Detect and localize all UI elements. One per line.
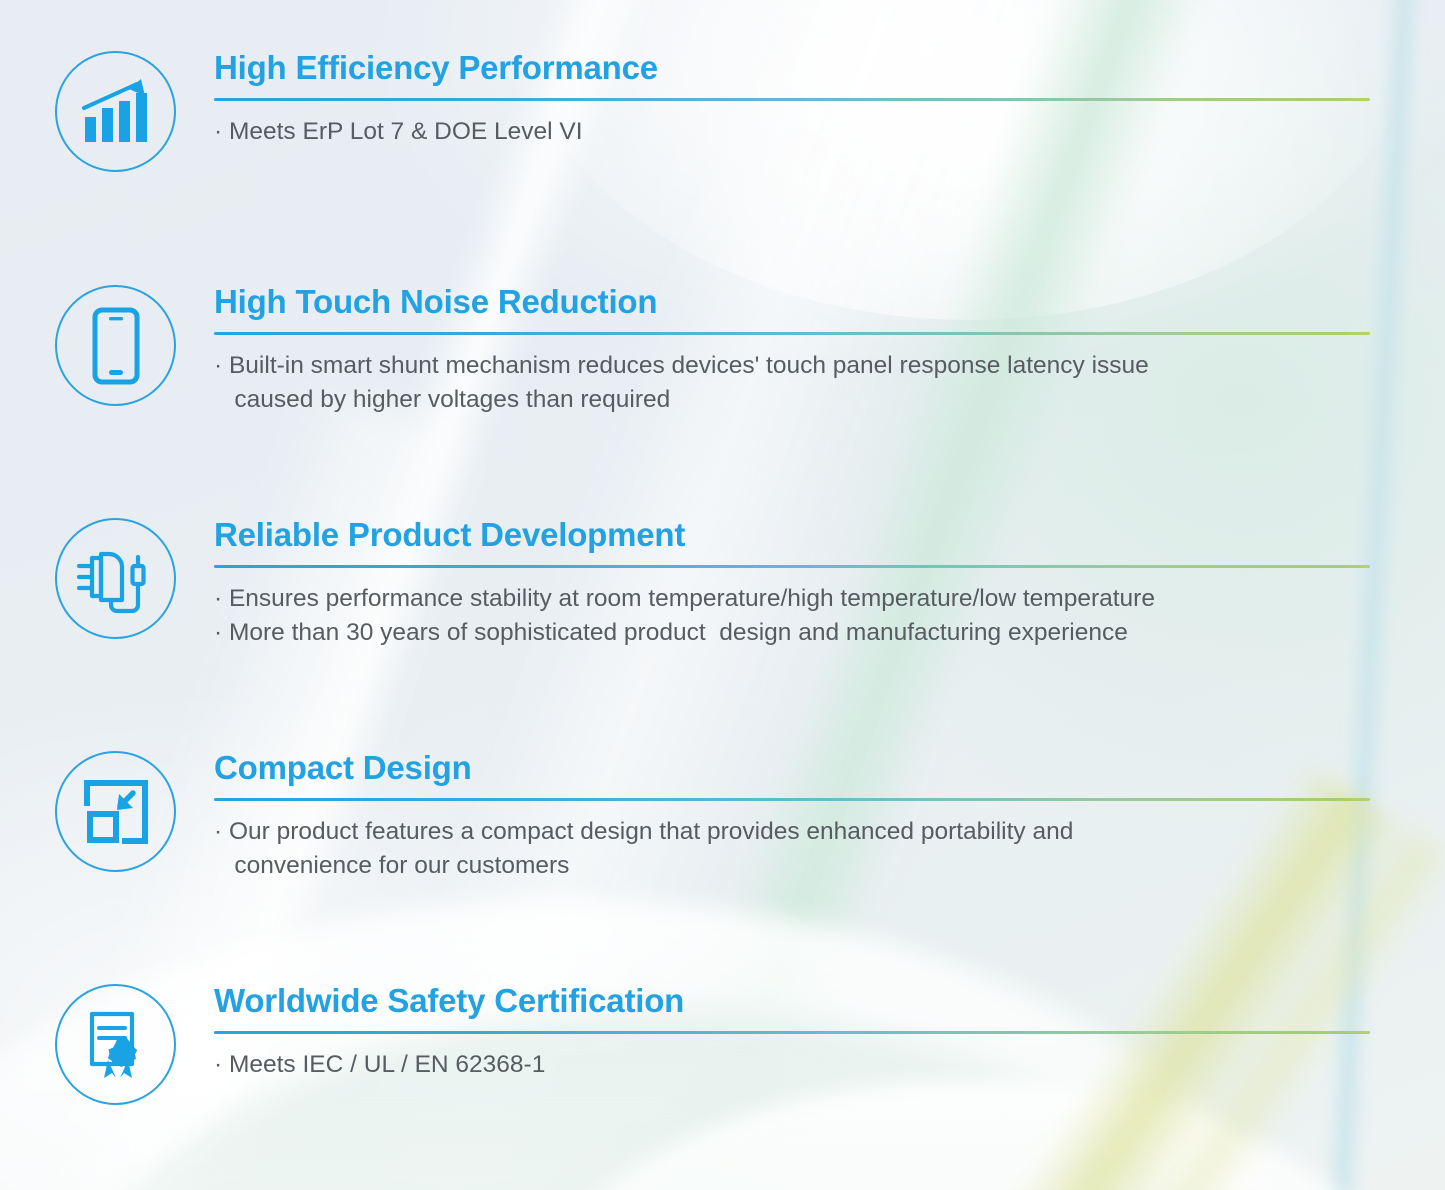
- feature-line: caused by higher voltages than required: [214, 383, 1370, 418]
- feature-description: · Our product features a compact design …: [214, 815, 1370, 885]
- feature-divider: [214, 98, 1370, 101]
- feature-item-reliable-product-development: Reliable Product Development · Ensures p…: [55, 518, 1370, 651]
- feature-line: convenience for our customers: [214, 849, 1370, 884]
- feature-title: Worldwide Safety Certification: [214, 984, 1370, 1019]
- feature-body: Worldwide Safety Certification · Meets I…: [214, 984, 1370, 1082]
- feature-title: High Efficiency Performance: [214, 51, 1370, 86]
- feature-item-worldwide-safety-certification: Worldwide Safety Certification · Meets I…: [55, 984, 1370, 1105]
- feature-line: · More than 30 years of sophisticated pr…: [214, 616, 1370, 651]
- feature-body: High Efficiency Performance · Meets ErP …: [214, 51, 1370, 149]
- compact-resize-icon: [55, 751, 176, 872]
- feature-line: · Meets IEC / UL / EN 62368-1: [214, 1048, 1370, 1083]
- feature-divider: [214, 798, 1370, 801]
- certificate-award-icon: [55, 984, 176, 1105]
- feature-line: · Ensures performance stability at room …: [214, 582, 1370, 617]
- feature-divider: [214, 565, 1370, 568]
- feature-title: Compact Design: [214, 751, 1370, 786]
- feature-item-high-efficiency-performance: High Efficiency Performance · Meets ErP …: [55, 51, 1370, 172]
- feature-line: · Built-in smart shunt mechanism reduces…: [214, 349, 1370, 384]
- feature-item-compact-design: Compact Design · Our product features a …: [55, 751, 1370, 884]
- feature-body: Compact Design · Our product features a …: [214, 751, 1370, 884]
- feature-title: High Touch Noise Reduction: [214, 285, 1370, 320]
- bar-chart-growth-icon: [55, 51, 176, 172]
- feature-line: · Our product features a compact design …: [214, 815, 1370, 850]
- feature-divider: [214, 1031, 1370, 1034]
- feature-title: Reliable Product Development: [214, 518, 1370, 553]
- smartphone-icon: [55, 285, 176, 406]
- feature-body: High Touch Noise Reduction · Built-in sm…: [214, 285, 1370, 418]
- feature-divider: [214, 332, 1370, 335]
- feature-description: · Built-in smart shunt mechanism reduces…: [214, 349, 1370, 419]
- power-adapter-icon: [55, 518, 176, 639]
- feature-description: · Meets IEC / UL / EN 62368-1: [214, 1048, 1370, 1083]
- feature-description: · Meets ErP Lot 7 & DOE Level VI: [214, 115, 1370, 150]
- feature-description: · Ensures performance stability at room …: [214, 582, 1370, 652]
- feature-body: Reliable Product Development · Ensures p…: [214, 518, 1370, 651]
- feature-line: · Meets ErP Lot 7 & DOE Level VI: [214, 115, 1370, 150]
- feature-item-high-touch-noise-reduction: High Touch Noise Reduction · Built-in sm…: [55, 285, 1370, 418]
